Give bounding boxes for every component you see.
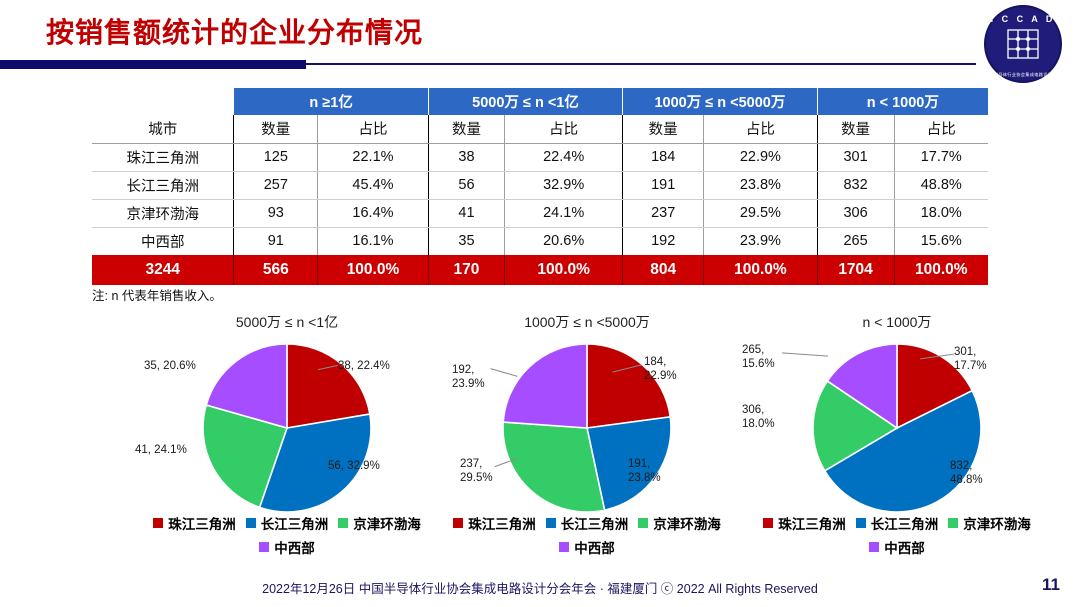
group-header-1: n ≥1亿 bbox=[234, 88, 428, 115]
legend-item: 珠江三角洲 bbox=[453, 513, 536, 533]
cell-count-2: 41 bbox=[428, 199, 504, 227]
pie-1-label-3: 35, 20.6% bbox=[144, 360, 196, 374]
table-group-header-row: n ≥1亿 5000万 ≤ n <1亿 1000万 ≤ n <5000万 n <… bbox=[92, 88, 988, 115]
cell-share-3: 23.9% bbox=[704, 227, 817, 255]
pie-chart-1-title: 5000万 ≤ n <1亿 bbox=[132, 312, 442, 332]
cell-count-4: 265 bbox=[817, 227, 894, 255]
pie-2-label-3: 192, 23.9% bbox=[452, 364, 485, 391]
legend-swatch-icon bbox=[869, 542, 879, 552]
legend-swatch-icon bbox=[153, 518, 163, 528]
cell-count-1: 93 bbox=[234, 199, 318, 227]
sub-header-share-4: 占比 bbox=[894, 115, 988, 143]
sub-header-share-3: 占比 bbox=[704, 115, 817, 143]
legend-chart-1: 珠江三角洲 长江三角洲 京津环渤海 中西部 bbox=[132, 513, 442, 557]
table-total-row: 3244 566 100.0% 170 100.0% 804 100.0% 17… bbox=[92, 255, 988, 285]
iccad-logo: I C C A D 中国半导体行业协会集成电路设计分会 bbox=[984, 5, 1062, 83]
cell-count-2: 56 bbox=[428, 171, 504, 199]
cell-share-4: 15.6% bbox=[894, 227, 988, 255]
legend-item: 珠江三角洲 bbox=[153, 513, 236, 533]
distribution-table: n ≥1亿 5000万 ≤ n <1亿 1000万 ≤ n <5000万 n <… bbox=[92, 88, 988, 285]
slide-canvas: 按销售额统计的企业分布情况 I C C A D 中国半导体行业协会集成电路设计分… bbox=[0, 0, 1080, 607]
legend-item: 中西部 bbox=[559, 537, 615, 557]
pie-2-label-0: 184, 22.9% bbox=[644, 356, 677, 383]
legend-swatch-icon bbox=[559, 542, 569, 552]
row-city: 京津环渤海 bbox=[92, 199, 234, 227]
pie-1-label-1: 56, 32.9% bbox=[328, 460, 380, 474]
legend-swatch-icon bbox=[546, 518, 556, 528]
cell-count-1: 257 bbox=[234, 171, 318, 199]
table-row: 京津环渤海 93 16.4% 41 24.1% 237 29.5% 306 18… bbox=[92, 199, 988, 227]
row-city: 中西部 bbox=[92, 227, 234, 255]
legend-label: 京津环渤海 bbox=[353, 513, 421, 533]
group-header-3: 1000万 ≤ n <5000万 bbox=[623, 88, 817, 115]
group-header-4: n < 1000万 bbox=[817, 88, 988, 115]
pie-slice bbox=[503, 344, 587, 428]
table-sub-header-row: 城市 数量 占比 数量 占比 数量 占比 数量 占比 bbox=[92, 115, 988, 143]
pie-chart-2-title: 1000万 ≤ n <5000万 bbox=[432, 312, 742, 332]
table-row: 长江三角洲 257 45.4% 56 32.9% 191 23.8% 832 4… bbox=[92, 171, 988, 199]
pie-1-label-2: 41, 24.1% bbox=[135, 444, 187, 458]
legend-chart-2: 珠江三角洲 长江三角洲 京津环渤海 中西部 bbox=[432, 513, 742, 557]
legend-item: 中西部 bbox=[259, 537, 315, 557]
cell-count-1: 125 bbox=[234, 143, 318, 171]
sub-header-count-2: 数量 bbox=[428, 115, 504, 143]
page-title: 按销售额统计的企业分布情况 bbox=[46, 11, 423, 51]
legend-item: 长江三角洲 bbox=[856, 513, 939, 533]
total-grand: 3244 bbox=[92, 255, 234, 285]
logo-subtitle: 中国半导体行业协会集成电路设计分会 bbox=[985, 72, 1061, 78]
cell-count-3: 192 bbox=[623, 227, 704, 255]
legend-chart-3: 珠江三角洲 长江三角洲 京津环渤海 中西部 bbox=[742, 513, 1052, 557]
legend-swatch-icon bbox=[856, 518, 866, 528]
sub-header-count-3: 数量 bbox=[623, 115, 704, 143]
cell-share-3: 23.8% bbox=[704, 171, 817, 199]
cell-share-1: 22.1% bbox=[318, 143, 429, 171]
legend-item: 珠江三角洲 bbox=[763, 513, 846, 533]
table-note: 注: n 代表年销售收入。 bbox=[92, 285, 222, 304]
group-header-2: 5000万 ≤ n <1亿 bbox=[428, 88, 622, 115]
total-share-4: 100.0% bbox=[894, 255, 988, 285]
legend-label: 长江三角洲 bbox=[871, 513, 939, 533]
logo-chip-icon bbox=[1001, 24, 1045, 64]
total-count-2: 170 bbox=[428, 255, 504, 285]
legend-item: 京津环渤海 bbox=[638, 513, 721, 533]
pie-3-label-3: 265, 15.6% bbox=[742, 344, 775, 371]
total-count-4: 1704 bbox=[817, 255, 894, 285]
legend-swatch-icon bbox=[638, 518, 648, 528]
pie-2-label-1: 191, 23.8% bbox=[628, 458, 661, 485]
pie-2-label-2: 237, 29.5% bbox=[460, 458, 493, 485]
legend-label: 中西部 bbox=[574, 537, 615, 557]
table-row: 珠江三角洲 125 22.1% 38 22.4% 184 22.9% 301 1… bbox=[92, 143, 988, 171]
legend-swatch-icon bbox=[453, 518, 463, 528]
group-header-blank bbox=[92, 88, 234, 115]
legend-item: 中西部 bbox=[869, 537, 925, 557]
legend-swatch-icon bbox=[259, 542, 269, 552]
legend-label: 京津环渤海 bbox=[653, 513, 721, 533]
logo-letters: I C C A D bbox=[991, 14, 1056, 24]
legend-swatch-icon bbox=[763, 518, 773, 528]
total-share-2: 100.0% bbox=[505, 255, 623, 285]
header-rule-thick bbox=[0, 60, 306, 69]
cell-count-3: 184 bbox=[623, 143, 704, 171]
legend-label: 中西部 bbox=[884, 537, 925, 557]
cell-count-2: 38 bbox=[428, 143, 504, 171]
legend-label: 长江三角洲 bbox=[561, 513, 629, 533]
header-rule-thin bbox=[306, 63, 976, 65]
legend-label: 中西部 bbox=[274, 537, 315, 557]
legend-item: 京津环渤海 bbox=[948, 513, 1031, 533]
cell-share-1: 45.4% bbox=[318, 171, 429, 199]
cell-count-3: 191 bbox=[623, 171, 704, 199]
cell-share-2: 32.9% bbox=[505, 171, 623, 199]
cell-share-2: 20.6% bbox=[505, 227, 623, 255]
legend-swatch-icon bbox=[338, 518, 348, 528]
slide-footer: 2022年12月26日 中国半导体行业协会集成电路设计分会年会 · 福建厦门 ⓒ… bbox=[0, 578, 1080, 597]
cell-count-4: 301 bbox=[817, 143, 894, 171]
cell-share-1: 16.1% bbox=[318, 227, 429, 255]
sub-header-count-4: 数量 bbox=[817, 115, 894, 143]
cell-share-2: 22.4% bbox=[505, 143, 623, 171]
cell-count-1: 91 bbox=[234, 227, 318, 255]
legend-swatch-icon bbox=[246, 518, 256, 528]
cell-share-2: 24.1% bbox=[505, 199, 623, 227]
cell-share-4: 17.7% bbox=[894, 143, 988, 171]
cell-count-2: 35 bbox=[428, 227, 504, 255]
sub-header-count-1: 数量 bbox=[234, 115, 318, 143]
page-number: 11 bbox=[1042, 575, 1060, 595]
cell-share-4: 18.0% bbox=[894, 199, 988, 227]
legend-item: 长江三角洲 bbox=[246, 513, 329, 533]
pie-3-label-2: 306, 18.0% bbox=[742, 404, 775, 431]
total-count-3: 804 bbox=[623, 255, 704, 285]
pie-1-label-0: 38, 22.4% bbox=[338, 360, 390, 374]
row-city: 长江三角洲 bbox=[92, 171, 234, 199]
pie-chart-3-title: n < 1000万 bbox=[742, 312, 1052, 332]
legend-label: 长江三角洲 bbox=[261, 513, 329, 533]
legend-label: 京津环渤海 bbox=[963, 513, 1031, 533]
cell-share-3: 22.9% bbox=[704, 143, 817, 171]
legend-swatch-icon bbox=[948, 518, 958, 528]
sub-header-city: 城市 bbox=[92, 115, 234, 143]
pie-3-label-0: 301, 17.7% bbox=[954, 346, 987, 373]
legend-label: 珠江三角洲 bbox=[468, 513, 536, 533]
total-count-1: 566 bbox=[234, 255, 318, 285]
cell-share-3: 29.5% bbox=[704, 199, 817, 227]
pie-slice bbox=[503, 422, 605, 512]
legend-item: 京津环渤海 bbox=[338, 513, 421, 533]
cell-count-4: 832 bbox=[817, 171, 894, 199]
total-share-3: 100.0% bbox=[704, 255, 817, 285]
total-share-1: 100.0% bbox=[318, 255, 429, 285]
cell-share-1: 16.4% bbox=[318, 199, 429, 227]
sub-header-share-1: 占比 bbox=[318, 115, 429, 143]
legend-label: 珠江三角洲 bbox=[168, 513, 236, 533]
cell-share-4: 48.8% bbox=[894, 171, 988, 199]
pie-3-label-1: 832, 48.8% bbox=[950, 460, 983, 487]
cell-count-3: 237 bbox=[623, 199, 704, 227]
table-row: 中西部 91 16.1% 35 20.6% 192 23.9% 265 15.6… bbox=[92, 227, 988, 255]
legend-label: 珠江三角洲 bbox=[778, 513, 846, 533]
legend-item: 长江三角洲 bbox=[546, 513, 629, 533]
row-city: 珠江三角洲 bbox=[92, 143, 234, 171]
cell-count-4: 306 bbox=[817, 199, 894, 227]
sub-header-share-2: 占比 bbox=[505, 115, 623, 143]
